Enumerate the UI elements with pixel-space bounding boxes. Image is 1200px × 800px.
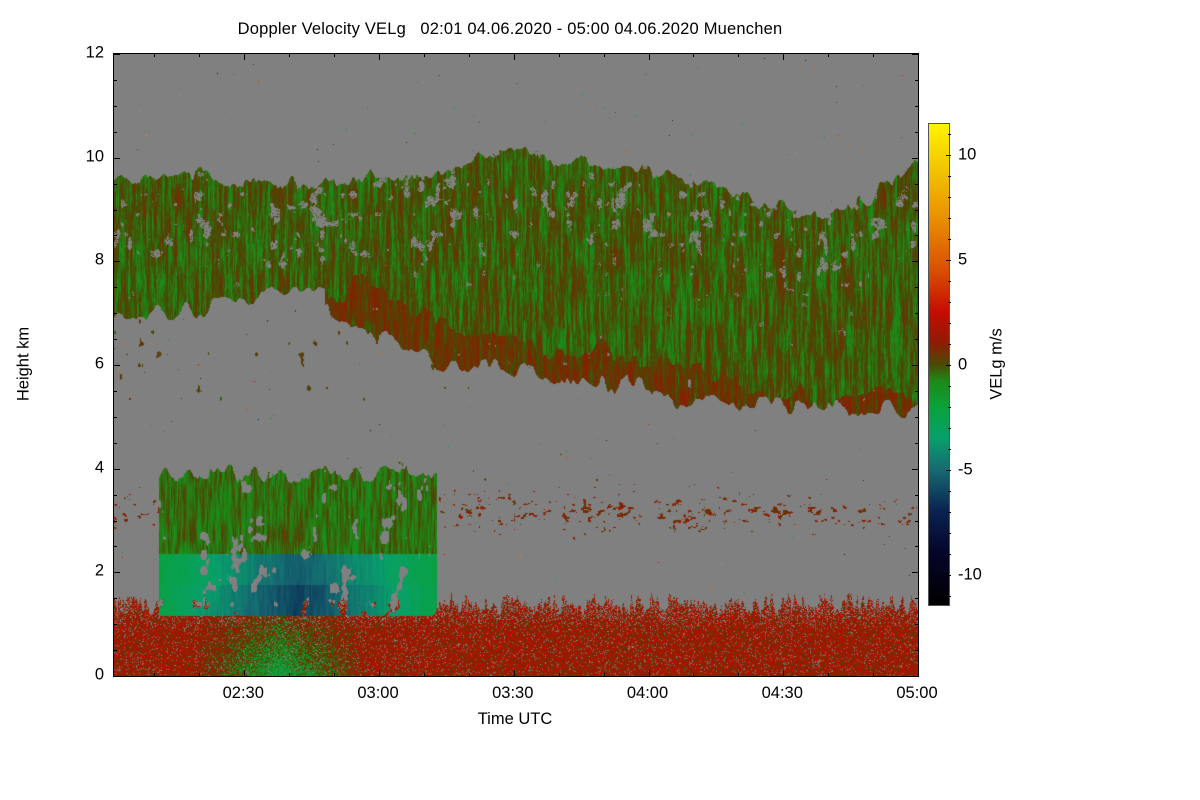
colorbar-tick [948,491,951,492]
colorbar-tick [948,554,951,555]
colorbar [928,123,950,606]
x-tick [334,53,335,57]
y-tick [113,313,117,314]
x-tick [379,670,380,677]
colorbar-tick [948,428,951,429]
y-tick [113,391,117,392]
y-tick [113,469,120,470]
x-tick [783,53,784,60]
colorbar-tick-label: 10 [958,145,976,164]
y-tick-label: 8 [95,251,104,270]
colorbar-tick-label: -5 [958,460,973,479]
x-tick [604,53,605,57]
x-tick [334,673,335,677]
x-tick-label: 03:30 [492,684,533,703]
colorbar-tick [948,302,951,303]
y-tick [912,572,919,573]
x-tick [469,673,470,677]
x-tick-label: 04:00 [627,684,668,703]
y-tick [912,158,919,159]
x-tick [559,53,560,57]
page-title: Doppler Velocity VELg 02:01 04.06.2020 -… [0,20,1020,39]
colorbar-tick [946,260,951,261]
x-tick-label: 02:30 [223,684,264,703]
y-tick [113,287,117,288]
y-tick [915,391,919,392]
y-tick [915,624,919,625]
x-tick [918,670,919,677]
y-tick [915,287,919,288]
y-tick [113,210,117,211]
y-tick [915,339,919,340]
colorbar-tick [948,596,951,597]
y-tick [915,80,919,81]
y-tick-label: 12 [86,44,104,63]
colorbar-tick [946,575,951,576]
y-tick [915,417,919,418]
x-tick-label: 03:00 [357,684,398,703]
x-tick [154,53,155,57]
colorbar-tick [948,239,951,240]
colorbar-tick [946,155,951,156]
x-tick [199,673,200,677]
colorbar-tick [948,218,951,219]
x-tick [873,53,874,57]
colorbar-tick-label: -10 [958,565,982,584]
y-tick [113,235,117,236]
colorbar-tick [948,386,951,387]
colorbar-tick [948,323,951,324]
x-tick [514,53,515,60]
x-tick [828,673,829,677]
y-tick [912,261,919,262]
colorbar-tick [948,407,951,408]
x-tick [424,53,425,57]
x-tick [289,673,290,677]
y-tick [113,106,117,107]
y-tick [915,184,919,185]
y-tick-label: 0 [95,666,104,685]
colorbar-tick [948,512,951,513]
colorbar-tick-label: 0 [958,355,967,374]
y-tick [915,132,919,133]
y-tick [915,443,919,444]
x-tick [738,53,739,57]
x-tick [918,53,919,60]
y-tick [113,572,120,573]
y-tick-label: 10 [86,147,104,166]
x-tick [604,673,605,677]
x-tick [289,53,290,57]
y-tick [113,417,117,418]
y-tick [915,495,919,496]
x-tick [738,673,739,677]
y-tick [915,521,919,522]
y-tick [113,261,120,262]
x-tick-label: 04:30 [762,684,803,703]
colorbar-tick [948,344,951,345]
x-tick [244,53,245,60]
y-tick [113,650,117,651]
x-tick [783,670,784,677]
x-tick [559,673,560,677]
y-tick [915,650,919,651]
y-tick [113,158,120,159]
x-tick [424,673,425,677]
y-tick [915,313,919,314]
x-tick [199,53,200,57]
y-tick [915,235,919,236]
y-tick [113,624,117,625]
y-tick-label: 2 [95,562,104,581]
colorbar-tick [948,134,951,135]
x-tick [693,673,694,677]
x-tick [154,673,155,677]
x-axis-tick-labels: 02:3003:0003:3004:0004:3005:00 [113,684,917,708]
colorbar-tick-label: 5 [958,250,967,269]
y-tick [912,469,919,470]
y-tick [113,54,120,55]
y-tick [113,495,117,496]
y-tick [113,184,117,185]
x-tick [649,670,650,677]
x-tick [649,53,650,60]
y-tick [915,598,919,599]
colorbar-title: VELg m/s [988,328,1007,400]
x-tick [873,673,874,677]
y-tick [113,132,117,133]
y-tick [113,598,117,599]
y-tick [113,443,117,444]
x-tick [244,670,245,677]
x-tick [514,670,515,677]
y-tick [113,80,117,81]
y-tick [915,106,919,107]
x-tick [828,53,829,57]
x-tick-label: 05:00 [896,684,937,703]
x-tick [693,53,694,57]
y-tick [113,521,117,522]
plot-area [113,53,919,677]
x-tick [379,53,380,60]
colorbar-tick [946,365,951,366]
y-tick [113,546,117,547]
colorbar-tick [948,533,951,534]
colorbar-tick [948,197,951,198]
x-tick [469,53,470,57]
y-axis-title: Height km [15,327,34,401]
colorbar-tick [946,470,951,471]
colorbar-tick [948,176,951,177]
colorbar-tick [948,281,951,282]
y-tick [113,365,120,366]
y-tick [113,339,117,340]
y-tick [912,365,919,366]
y-tick [915,210,919,211]
y-tick-label: 6 [95,355,104,374]
doppler-velocity-heatmap [114,54,918,676]
y-tick-label: 4 [95,458,104,477]
x-axis-title: Time UTC [113,710,917,729]
y-tick [915,546,919,547]
y-axis-tick-labels: 024681012 [52,53,104,675]
colorbar-tick [948,449,951,450]
y-tick [113,676,120,677]
